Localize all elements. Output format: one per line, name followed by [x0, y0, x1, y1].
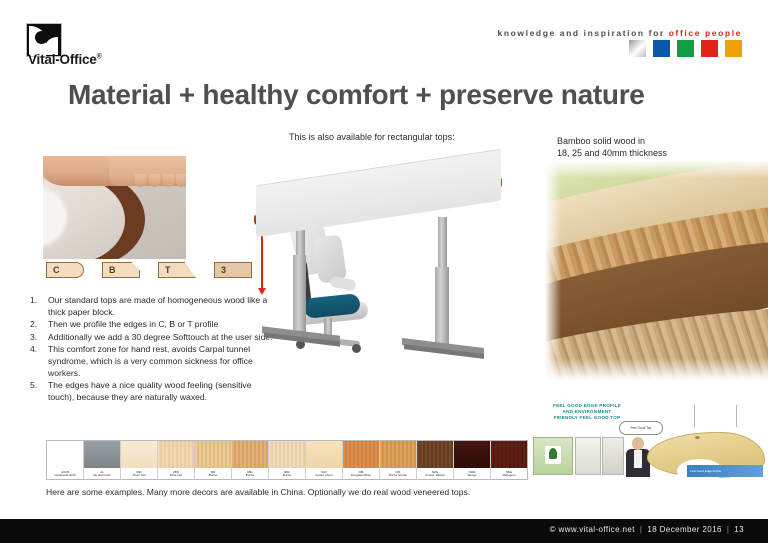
- decor-name: Buche: [283, 473, 291, 477]
- page-title: Material + healthy comfort + preserve na…: [68, 79, 645, 111]
- decor-note: Here are some examples. Many more decors…: [46, 487, 470, 497]
- decor-name: Douglasie Birke: [351, 473, 371, 477]
- swatch-red: [701, 40, 718, 57]
- decor-sample[interactable]: NBBuche: [195, 441, 232, 479]
- footer-date: 18 December 2016: [647, 525, 721, 534]
- promo-panel-right: [602, 437, 624, 475]
- list-item: 4. This comfort zone for hand rest, avoi…: [30, 344, 275, 379]
- decor-sample[interactable]: NWEWenge: [454, 441, 491, 479]
- decor-sample[interactable]: ALAlu aluminium: [84, 441, 121, 479]
- list-item-number: 5.: [30, 380, 48, 403]
- decor-sample[interactable]: NBiDouglasie Birke: [343, 441, 380, 479]
- height-adjustable-desk-illustration: [240, 155, 530, 400]
- decor-name: Canad. Ahorn: [315, 473, 333, 477]
- decor-name: Wenge: [467, 473, 476, 477]
- decor-name: Ahorn hell: [132, 473, 145, 477]
- footer-copyright[interactable]: © www.vital-office.net: [550, 525, 635, 534]
- list-item-number: 3.: [30, 332, 48, 344]
- slide: Vital-Office® knowledge and inspiration …: [0, 0, 768, 543]
- list-item: 1. Our standard tops are made of homogen…: [30, 295, 275, 318]
- tagline-accent: office people: [669, 28, 742, 38]
- footer-bar: © www.vital-office.net|18 December 2016|…: [0, 519, 768, 543]
- feel-good-promo-banner: FEEL GOOD EDGE PROFILE AND ENVIRONMENT F…: [527, 401, 768, 485]
- footer-text: © www.vital-office.net|18 December 2016|…: [550, 525, 744, 534]
- swatch-silver: [629, 40, 646, 57]
- bamboo-boards-photo: [545, 160, 768, 380]
- feature-list: 1. Our standard tops are made of homogen…: [30, 295, 275, 404]
- bamboo-caption: Bamboo solid wood in 18, 25 and 40mm thi…: [557, 135, 667, 159]
- decor-name: Mahagoni: [503, 473, 516, 477]
- promo-panel-left: [575, 437, 601, 475]
- decor-sample[interactable]: NWaAmeric. Walnut: [417, 441, 454, 479]
- fsc-certificate-icon: [533, 437, 573, 475]
- tagline-main: knowledge and inspiration for: [498, 28, 665, 38]
- promo-tag-strip: Feel Good Edge Profile: [687, 465, 763, 477]
- trademark-symbol: ®: [97, 54, 102, 61]
- brand-logo[interactable]: Vital-Office®: [26, 23, 88, 67]
- decor-name: Buche Smoke: [389, 473, 407, 477]
- list-item: 3. Additionally we add a 30 degree Softt…: [30, 332, 275, 344]
- decor-name: kreideweiß 9016: [54, 473, 75, 477]
- decor-sample[interactable]: NKiBuche Smoke: [380, 441, 417, 479]
- decor-sample[interactable]: NMaMahagoni: [491, 441, 527, 479]
- swatch-orange: [725, 40, 742, 57]
- list-item-number: 2.: [30, 319, 48, 331]
- decor-sample[interactable]: 2bRAhorn hell: [121, 441, 158, 479]
- decor-sample[interactable]: NAhCanad. Ahorn: [306, 441, 343, 479]
- decor-name: Buche: [209, 473, 217, 477]
- decor-name: Americ. Walnut: [425, 473, 445, 477]
- decor-sample-strip: AO2Rkreideweiß 9016 ALAlu aluminium 2bRA…: [46, 440, 528, 480]
- desk-leg-right-lower: [435, 267, 449, 345]
- swatch-blue: [653, 40, 670, 57]
- edge-profile-b[interactable]: B: [102, 262, 140, 278]
- list-item: 5. The edges have a nice quality wood fe…: [30, 380, 275, 403]
- list-item-number: 4.: [30, 344, 48, 379]
- decor-name: Buche: [246, 473, 254, 477]
- bamboo-caption-line1: Bamboo solid wood in: [557, 135, 667, 147]
- list-item: 2. Then we profile the edges in C, B or …: [30, 319, 275, 331]
- decor-name: Birke hell: [170, 473, 182, 477]
- hand-on-desk-photo: [43, 156, 186, 259]
- logo-wordmark: Vital-Office®: [28, 52, 102, 67]
- edge-profile-badges: C B T 3: [46, 262, 252, 278]
- decor-sample[interactable]: NBuBuche: [232, 441, 269, 479]
- brand-swatch-row: [629, 40, 742, 57]
- decor-sample[interactable]: NRbBuche: [269, 441, 306, 479]
- promo-headline: FEEL GOOD EDGE PROFILE AND ENVIRONMENT F…: [533, 403, 641, 421]
- desk-leg-left-lower: [293, 255, 306, 333]
- edge-profile-t[interactable]: T: [158, 262, 196, 278]
- list-item-number: 1.: [30, 295, 48, 318]
- rectangular-tops-caption: This is also available for rectangular t…: [289, 132, 455, 142]
- footer-page-number: 13: [734, 525, 744, 534]
- decor-sample[interactable]: 2BNBirke hell: [158, 441, 195, 479]
- edge-profile-c[interactable]: C: [46, 262, 84, 278]
- decor-name: Alu aluminium: [93, 473, 111, 477]
- bamboo-caption-line2: 18, 25 and 40mm thickness: [557, 147, 667, 159]
- swatch-green: [677, 40, 694, 57]
- decor-sample[interactable]: AO2Rkreideweiß 9016: [47, 441, 84, 479]
- promo-speech-bubble: Feel Good Top: [619, 421, 663, 435]
- header-tagline: knowledge and inspiration for office peo…: [498, 28, 743, 38]
